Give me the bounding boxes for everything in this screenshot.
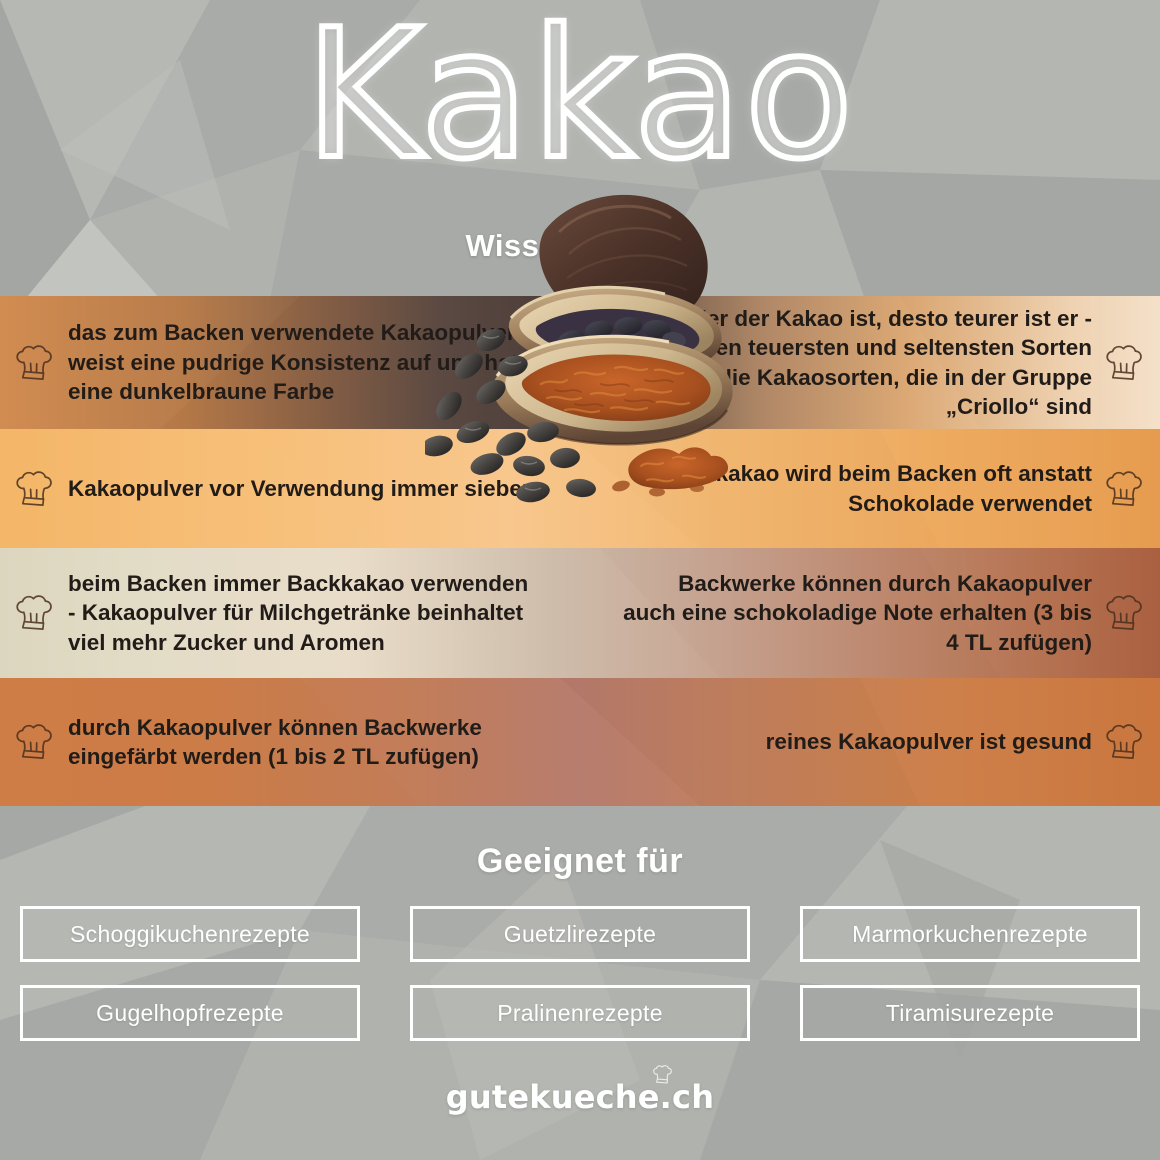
fact-item: je edler der Kakao ist, desto teurer ist…: [600, 296, 1160, 429]
fact-item: Backkakao wird beim Backen oft anstatt S…: [600, 429, 1160, 548]
fact-text: das zum Backen verwendete Kakaopulver we…: [56, 318, 540, 407]
recipe-chip-list: Schoggikuchenrezepte Guetzlirezepte Marm…: [20, 906, 1140, 1041]
fact-item: durch Kakaopulver können Backwerke einge…: [0, 678, 560, 806]
fact-text: Backwerke können durch Kakaopulver auch …: [620, 569, 1104, 658]
page-title-wrap: Kakao: [0, 6, 1160, 184]
recipe-chip-guetzlirezepte[interactable]: Guetzlirezepte: [410, 906, 750, 962]
chef-hat-icon: [652, 1065, 674, 1084]
footer: gutekueche.ch: [0, 1078, 1160, 1116]
fact-text: Backkakao wird beim Backen oft anstatt S…: [620, 459, 1104, 518]
header: Kakao Wissenswertes: [0, 0, 1160, 296]
recipe-chip-schoggikuchenrezepte[interactable]: Schoggikuchenrezepte: [20, 906, 360, 962]
facts-section: das zum Backen verwendete Kakaopulver we…: [0, 296, 1160, 806]
fact-band-2: Kakaopulver vor Verwendung immer sieben …: [0, 429, 1160, 548]
chef-hat-icon: [14, 345, 56, 381]
chef-hat-icon: [14, 724, 56, 760]
chef-hat-icon: [14, 471, 56, 507]
fact-text: beim Backen immer Backkakao verwenden - …: [56, 569, 540, 658]
fact-item: Backwerke können durch Kakaopulver auch …: [600, 548, 1160, 678]
page-title: Kakao: [0, 6, 1160, 184]
recipe-chip-tiramisurezepte[interactable]: Tiramisurezepte: [800, 985, 1140, 1041]
fact-band-3: beim Backen immer Backkakao verwenden - …: [0, 548, 1160, 678]
fact-item: das zum Backen verwendete Kakaopulver we…: [0, 296, 560, 429]
chef-hat-icon: [1104, 345, 1146, 381]
fact-item: beim Backen immer Backkakao verwenden - …: [0, 548, 560, 678]
recipe-chip-gugelhopfrezepte[interactable]: Gugelhopfrezepte: [20, 985, 360, 1041]
suited-for-title: Geeignet für: [0, 842, 1160, 881]
fact-text: durch Kakaopulver können Backwerke einge…: [56, 713, 540, 772]
fact-text: reines Kakaopulver ist gesund: [766, 727, 1104, 757]
chef-hat-icon: [1104, 724, 1146, 760]
page-subtitle: Wissenswertes: [0, 228, 1160, 264]
recipe-chip-marmorkuchenrezepte[interactable]: Marmorkuchenrezepte: [800, 906, 1140, 962]
chef-hat-icon: [1104, 471, 1146, 507]
chef-hat-icon: [1104, 595, 1146, 631]
site-logo[interactable]: gutekueche.ch: [446, 1078, 714, 1116]
suited-for-section: Geeignet für Schoggikuchenrezepte Guetzl…: [0, 806, 1160, 1160]
recipe-chip-pralinenrezepte[interactable]: Pralinenrezepte: [410, 985, 750, 1041]
chef-hat-icon: [14, 595, 56, 631]
fact-band-4: durch Kakaopulver können Backwerke einge…: [0, 678, 1160, 806]
fact-item: Kakaopulver vor Verwendung immer sieben: [0, 429, 560, 548]
fact-text: Kakaopulver vor Verwendung immer sieben: [56, 474, 536, 504]
fact-text: je edler der Kakao ist, desto teurer ist…: [620, 304, 1104, 422]
fact-band-1: das zum Backen verwendete Kakaopulver we…: [0, 296, 1160, 429]
fact-item: reines Kakaopulver ist gesund: [600, 678, 1160, 806]
